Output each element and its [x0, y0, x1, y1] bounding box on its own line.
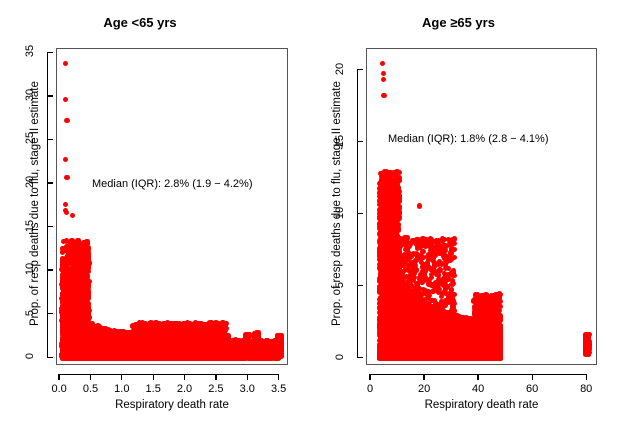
figure-root: Age <65 yrs 051015202530350.00.51.01.52.…: [0, 0, 627, 433]
plot-area-left: [56, 48, 288, 365]
panel-age-under-65: Age <65 yrs 051015202530350.00.51.01.52.…: [0, 0, 320, 433]
panel-title-left: Age <65 yrs: [0, 15, 300, 30]
